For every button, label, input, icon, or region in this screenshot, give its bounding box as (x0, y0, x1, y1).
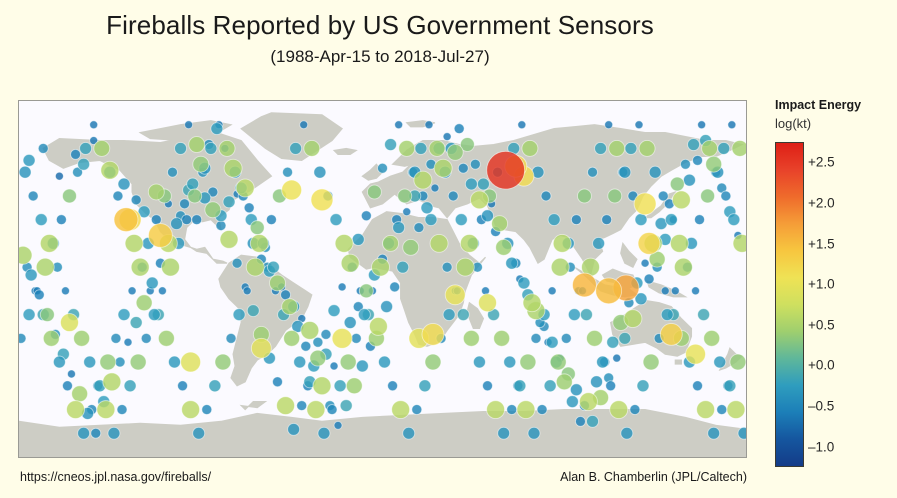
page-subtitle: (1988-Apr-15 to 2018-Jul-27) (0, 47, 760, 67)
colorbar-tick: –0.5 (808, 399, 834, 414)
colorbar-tick-labels: +2.5+2.0+1.5+1.0+0.5+0.0–0.5–1.0 (806, 142, 886, 467)
landmass (43, 133, 271, 264)
landmass (675, 360, 681, 364)
world-landmass-layer (19, 101, 746, 457)
fireball-map-page: Fireballs Reported by US Government Sens… (0, 0, 897, 498)
page-title: Fireballs Reported by US Government Sens… (0, 10, 760, 41)
legend-title: Impact Energy (775, 98, 861, 112)
colorbar-tick: +1.5 (808, 236, 835, 251)
landmass (611, 301, 692, 356)
source-url[interactable]: https://cneos.jpl.nasa.gov/fireballs/ (20, 470, 211, 484)
legend-unit-label: log(kt) (775, 116, 811, 131)
landmass (241, 113, 342, 161)
landmass (219, 255, 312, 386)
landmass (241, 402, 265, 410)
landmass (348, 212, 485, 346)
landmass (407, 121, 435, 127)
colorbar-tick: –1.0 (808, 439, 834, 454)
landmass (621, 243, 637, 267)
colorbar-tick: +2.5 (808, 155, 835, 170)
landmass (720, 348, 742, 370)
landmass (647, 281, 685, 297)
impact-energy-legend: Impact Energy log(kt) +2.5+2.0+1.5+1.0+0… (772, 98, 892, 478)
colorbar-tick: +0.5 (808, 317, 835, 332)
colorbar-tick: +0.0 (808, 358, 835, 373)
landmass (467, 303, 483, 329)
colorbar-tick: +1.0 (808, 277, 835, 292)
colorbar-tick: +2.0 (808, 195, 835, 210)
landmass (362, 164, 382, 180)
world-map-panel[interactable] (18, 100, 747, 458)
colorbar-gradient (775, 142, 804, 467)
landmass (334, 148, 356, 154)
landmass (645, 192, 675, 218)
author-credit: Alan B. Chamberlin (JPL/Caltech) (560, 470, 747, 484)
landmass (19, 410, 746, 457)
